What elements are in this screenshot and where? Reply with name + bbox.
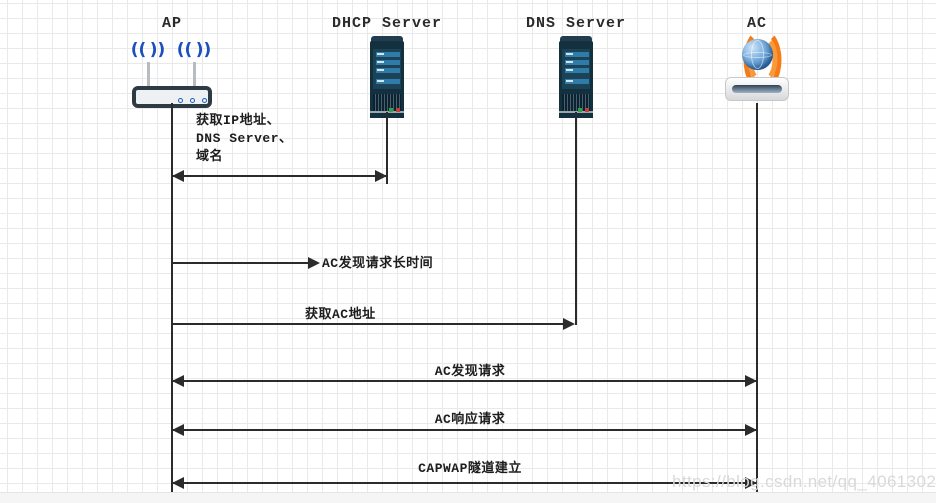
message-line-capwap-tunnel-setup	[173, 482, 757, 484]
message-line-ac-discovery-request-long	[172, 262, 312, 264]
wifi-signal-arc-right: (( ))	[177, 40, 211, 60]
lifeline-dns-server	[575, 112, 577, 325]
server-drive-bar	[376, 79, 400, 84]
arrow-head-left-capwap-tunnel-setup	[172, 477, 184, 489]
dns-server-icon	[559, 36, 593, 118]
server-body	[559, 41, 593, 118]
server-drive-bar	[565, 52, 589, 57]
message-label-ac-discovery-request-long: AC发现请求长时间	[322, 255, 433, 273]
arrow-head-left-ac-response-request	[172, 424, 184, 436]
server-body	[370, 41, 404, 118]
message-label-ac-response-request: AC响应请求	[435, 411, 506, 429]
message-label-line: 域名	[196, 148, 293, 166]
arrow-head-right-get-ip-address	[375, 170, 387, 182]
server-drive-panel	[562, 49, 590, 89]
server-drive-bar	[565, 60, 589, 65]
server-drive-bar	[565, 68, 589, 73]
participant-title-ap: AP	[162, 15, 182, 32]
router-led-2	[190, 98, 195, 103]
arrow-head-right-ac-discovery-request-long	[308, 257, 320, 269]
wifi-signal-arc-left: (( ))	[131, 40, 165, 60]
arrow-head-left-get-ip-address	[172, 170, 184, 182]
message-label-ac-discovery-request: AC发现请求	[435, 363, 506, 381]
server-drive-bar	[565, 79, 589, 84]
arrow-head-right-get-ac-address	[563, 318, 575, 330]
server-drive-panel	[373, 49, 401, 89]
controller-slot	[732, 85, 782, 93]
router-led-1	[178, 98, 183, 103]
server-drive-bar	[376, 52, 400, 57]
message-label-get-ac-address: 获取AC地址	[305, 306, 376, 324]
message-label-line: 获取IP地址、	[196, 112, 293, 130]
watermark-text: https://blog.csdn.net/qq_40613029	[672, 472, 936, 492]
arrow-head-right-ac-discovery-request	[745, 375, 757, 387]
server-drive-bar	[376, 68, 400, 73]
server-led-red	[585, 108, 589, 112]
message-label-line: DNS Server、	[196, 130, 293, 148]
server-led-green	[578, 108, 582, 112]
message-label-get-ip-address: 获取IP地址、 DNS Server、 域名	[196, 112, 293, 166]
server-drive-bar	[376, 60, 400, 65]
controller-base	[725, 77, 789, 101]
globe-icon	[742, 39, 773, 70]
dhcp-server-icon	[370, 36, 404, 118]
participant-title-dhcp-server: DHCP Server	[332, 15, 442, 32]
server-led-red	[396, 108, 400, 112]
message-line-ac-response-request	[173, 429, 757, 431]
sequence-diagram-canvas: AP DHCP Server DNS Server AC (( )) (( ))	[0, 0, 936, 503]
antenna-right	[193, 62, 196, 88]
wireless-controller-icon	[725, 37, 789, 101]
router-led-3	[202, 98, 207, 103]
server-led-green	[389, 108, 393, 112]
message-line-get-ip-address	[173, 175, 387, 177]
message-label-capwap-tunnel-setup: CAPWAP隧道建立	[418, 460, 522, 478]
arrow-head-right-ac-response-request	[745, 424, 757, 436]
wireless-access-point-icon: (( )) (( ))	[132, 40, 212, 108]
arrow-head-left-ac-discovery-request	[172, 375, 184, 387]
participant-title-dns-server: DNS Server	[526, 15, 626, 32]
antenna-left	[147, 62, 150, 88]
